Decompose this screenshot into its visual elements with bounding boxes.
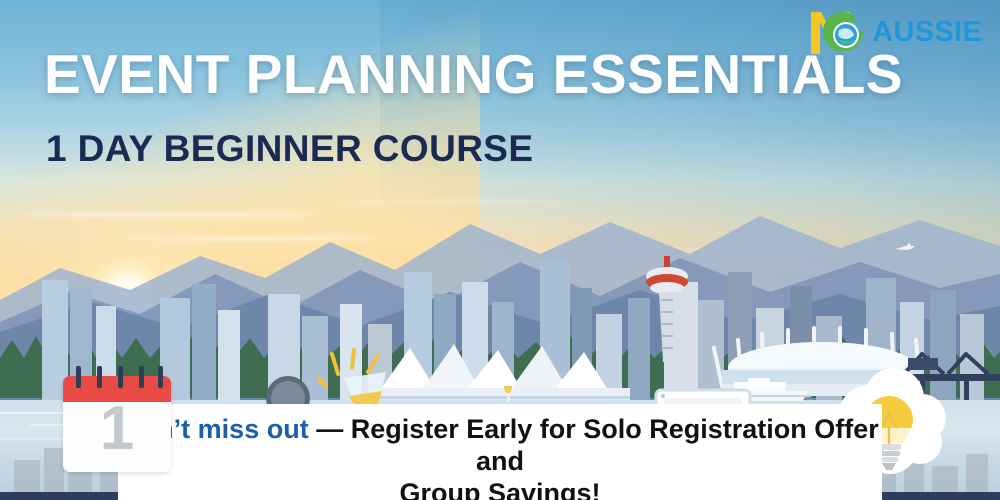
page-subtitle: 1 DAY BEGINNER COURSE xyxy=(46,130,533,167)
brand-logo[interactable]: AUSSIE xyxy=(808,6,982,58)
calendar-ring xyxy=(97,366,102,388)
calendar-ring xyxy=(139,366,144,388)
mg-monogram-icon xyxy=(808,6,870,58)
brand-name: AUSSIE xyxy=(872,16,982,49)
calendar-ring xyxy=(158,366,163,388)
cta-line2: Group Savings! xyxy=(399,478,600,500)
airplane-icon xyxy=(894,242,916,254)
event-banner: EVENT PLANNING ESSENTIALS 1 DAY BEGINNER… xyxy=(0,0,1000,500)
calendar-ring xyxy=(118,366,123,388)
calendar-icon: 1 xyxy=(63,366,171,472)
calendar-day-number: 1 xyxy=(63,396,171,463)
cta-text: Don’t miss out — Register Early for Solo… xyxy=(118,414,882,500)
page-title: EVENT PLANNING ESSENTIALS xyxy=(44,47,903,102)
cta-line1-rest: — Register Early for Solo Registration O… xyxy=(309,414,879,476)
calendar-ring xyxy=(76,366,81,388)
harbour-centre-tower-icon xyxy=(640,256,694,366)
